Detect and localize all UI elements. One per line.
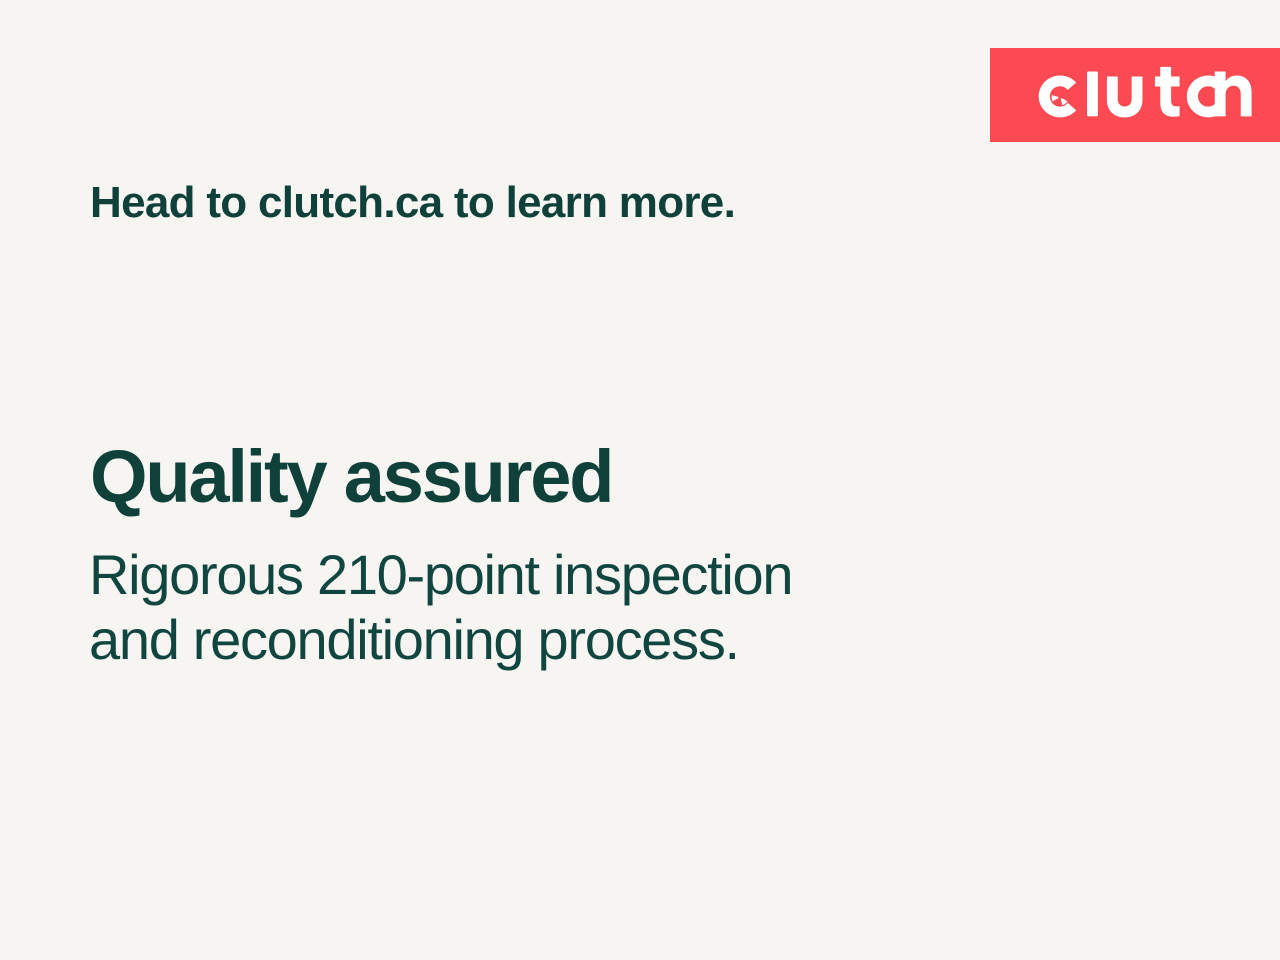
subhead-block: Rigorous 210-point inspection and recond…	[89, 543, 792, 673]
subhead-line-2: and reconditioning process.	[89, 608, 792, 673]
slide-canvas: clutch Head to clutch.ca to learn more. …	[0, 0, 1280, 960]
headline-text: Quality assured	[90, 437, 612, 517]
clutch-logo-badge[interactable]: clutch	[990, 48, 1280, 142]
clutch-wordmark-icon	[1030, 64, 1252, 126]
subhead-line-1: Rigorous 210-point inspection	[89, 543, 792, 608]
tagline-text: Head to clutch.ca to learn more.	[90, 178, 735, 227]
